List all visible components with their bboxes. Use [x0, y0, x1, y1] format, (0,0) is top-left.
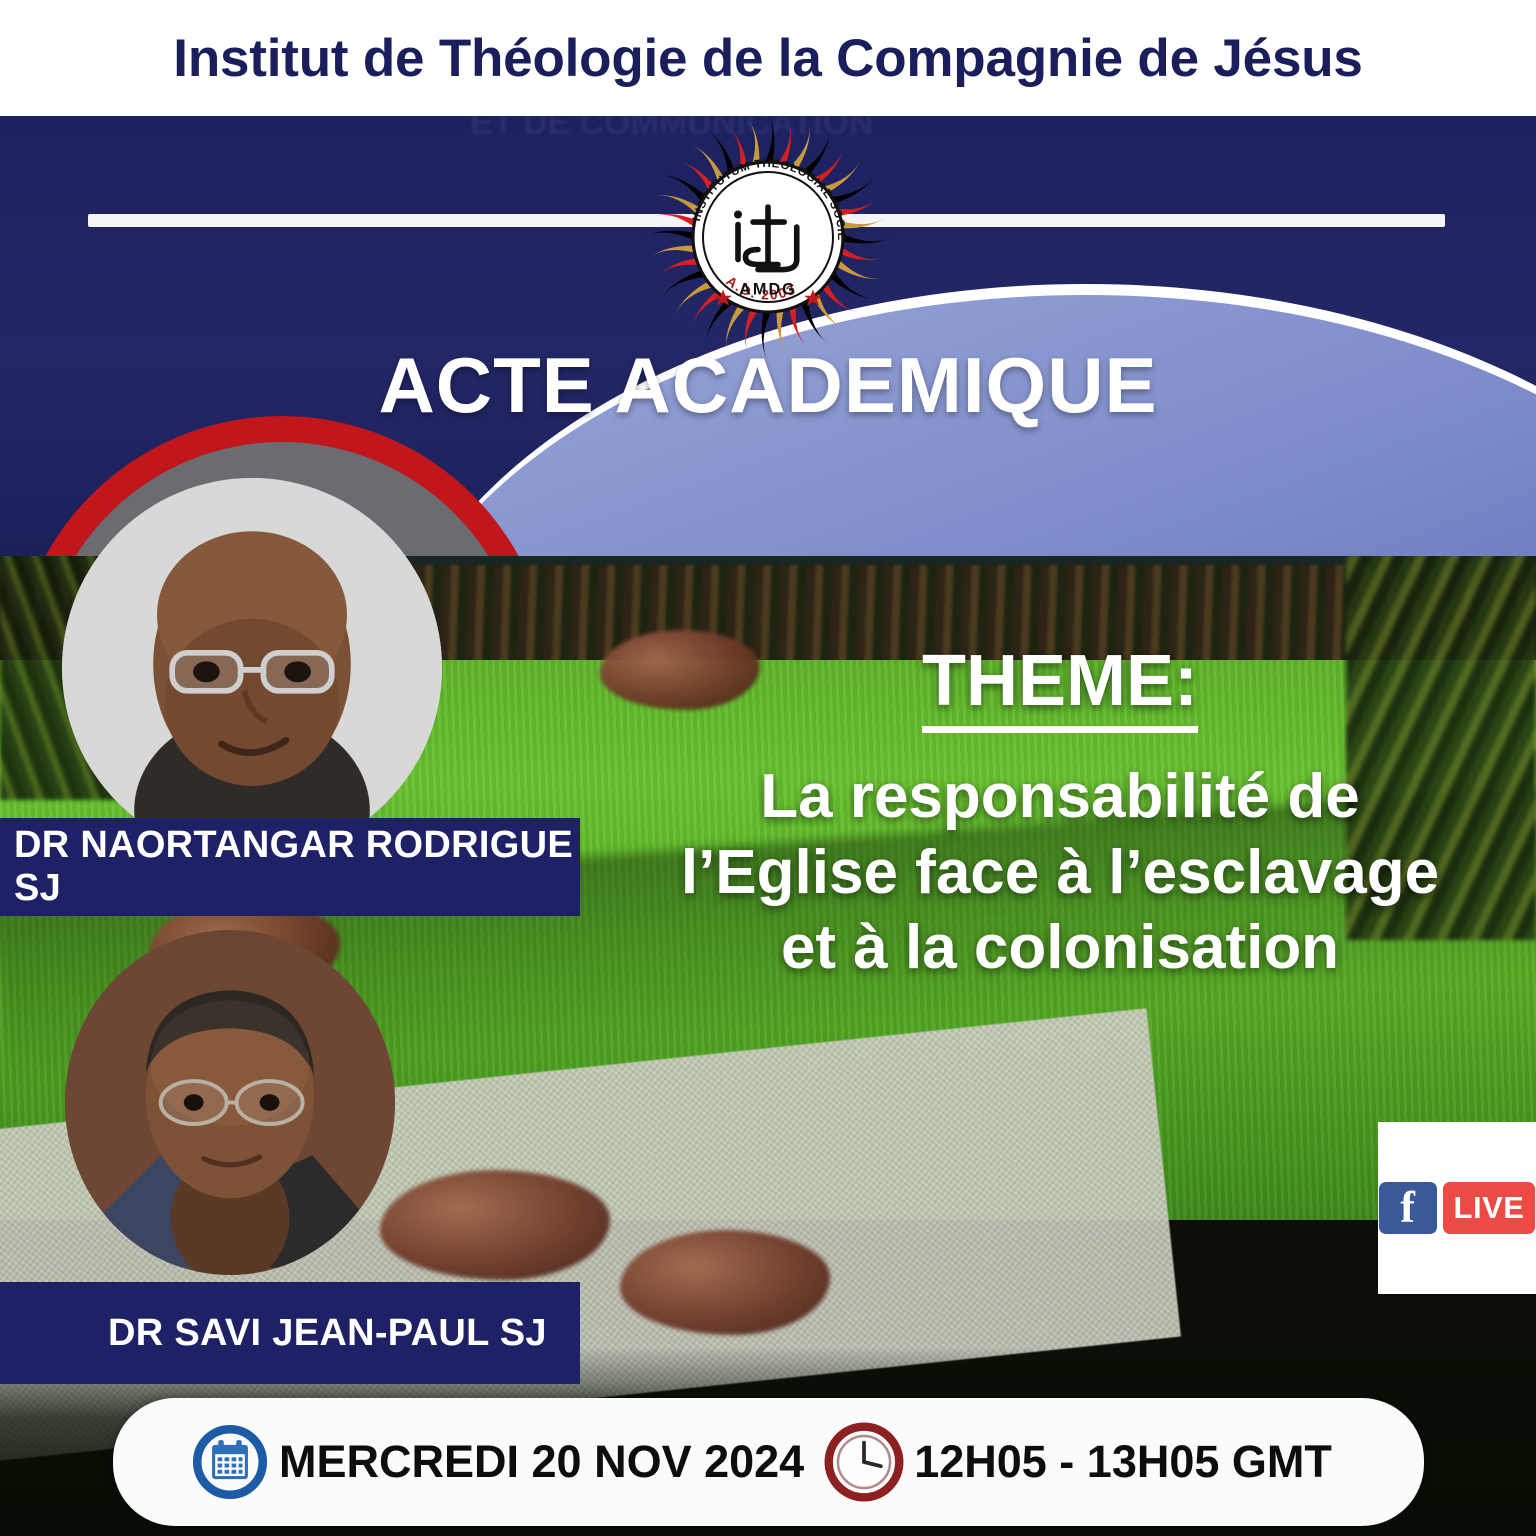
theme-line-3: et à la colonisation [600, 910, 1520, 986]
background-shrub [380, 1170, 610, 1280]
theme-block: THEME: La responsabilité de l’Eglise fac… [600, 640, 1520, 986]
schedule-date-group: MERCREDI 20 NOV 2024 [191, 1423, 804, 1501]
theme-line-1: La responsabilité de [600, 759, 1520, 835]
schedule-time-group: 12H05 - 13H05 GMT [804, 1420, 1332, 1504]
speaker-one-name-bar: DR NAORTANGAR RODRIGUE SJ [0, 818, 580, 916]
speaker-two-name: DR SAVI JEAN-PAUL SJ [108, 1312, 547, 1355]
event-date: MERCREDI 20 NOV 2024 [279, 1436, 804, 1488]
facebook-live-badge[interactable]: LIVE [1378, 1122, 1536, 1294]
speaker-one-name: DR NAORTANGAR RODRIGUE SJ [14, 824, 580, 910]
schedule-bar: MERCREDI 20 NOV 2024 12H05 - 13H05 GMT [113, 1398, 1424, 1526]
speaker-two-name-bar: DR SAVI JEAN-PAUL SJ [0, 1282, 580, 1384]
theme-line-2: l’Eglise face à l’esclavage [600, 835, 1520, 911]
event-time: 12H05 - 13H05 GMT [914, 1436, 1332, 1488]
avatar [65, 930, 395, 1275]
facebook-icon[interactable] [1379, 1182, 1437, 1234]
svg-text:AMDG: AMDG [739, 281, 797, 299]
portrait-speaker-two [65, 930, 395, 1275]
seal-icon: INSTITUTUM THEOLOGIAE SOCIETATIS IESU A.… [643, 112, 893, 362]
calendar-icon [191, 1423, 269, 1501]
event-poster: ET DE COMMUNICATION INSTITUTUM THEOLOGIA… [0, 0, 1536, 1536]
institution-title-band: Institut de Théologie de la Compagnie de… [0, 0, 1536, 116]
clock-icon [822, 1420, 906, 1504]
live-label[interactable]: LIVE [1443, 1182, 1536, 1234]
avatar [62, 478, 442, 858]
page-title: Institut de Théologie de la Compagnie de… [173, 28, 1362, 89]
background-shrub [620, 1230, 830, 1335]
theme-label: THEME: [922, 640, 1198, 733]
portrait-speaker-one [62, 478, 442, 858]
event-title: ACTE ACADEMIQUE [0, 340, 1536, 431]
institut-seal-logo: INSTITUTUM THEOLOGIAE SOCIETATIS IESU A.… [643, 112, 893, 362]
